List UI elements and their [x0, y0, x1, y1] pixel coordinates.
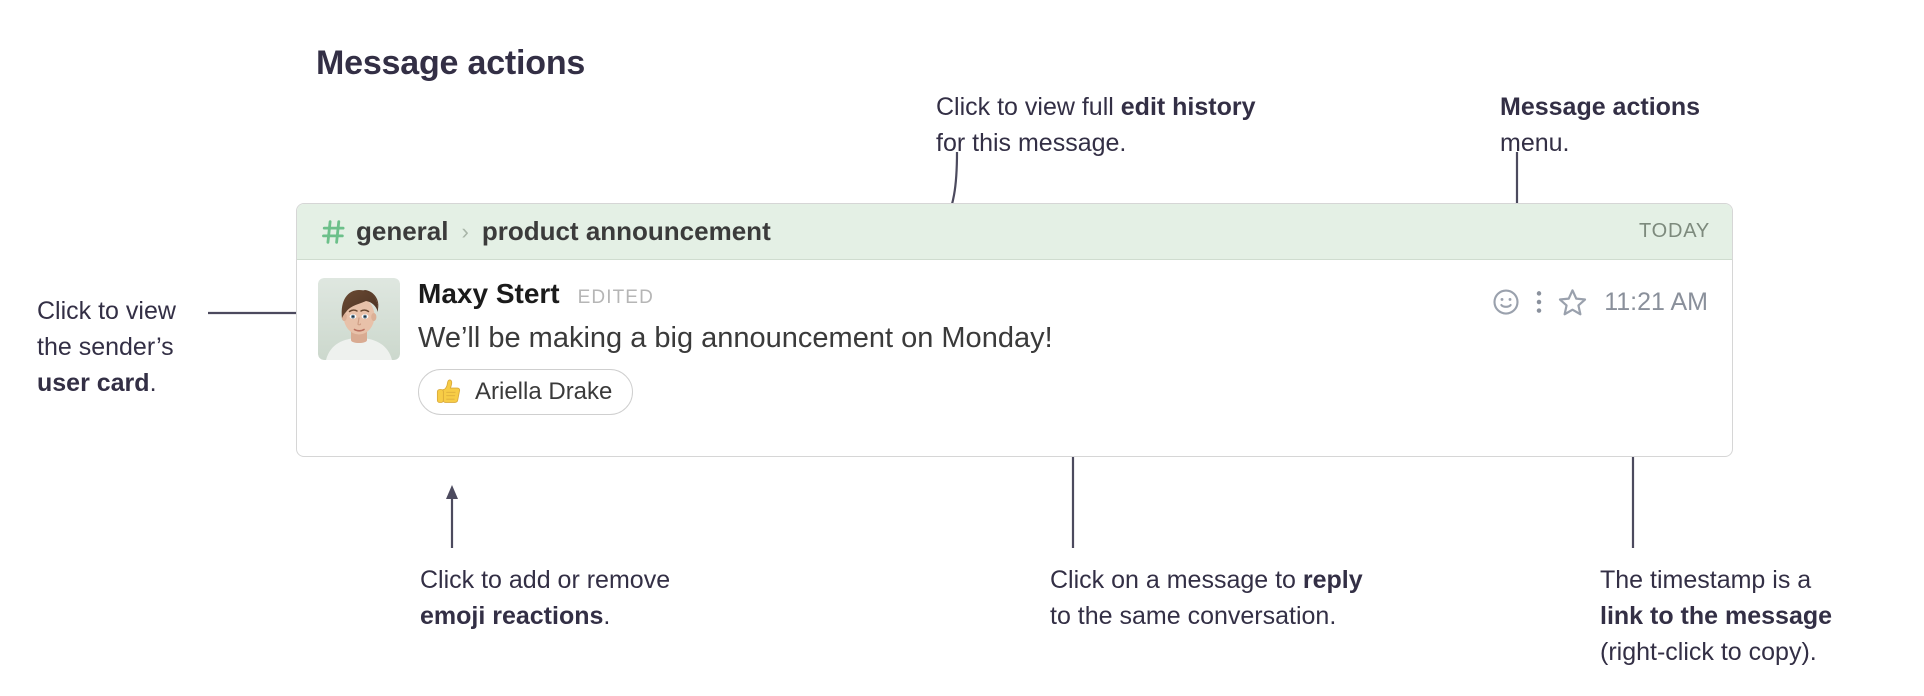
reaction-row: Ariella Drake [418, 369, 1710, 415]
reaction-user-name: Ariella Drake [475, 378, 612, 406]
avatar[interactable] [318, 278, 400, 360]
sender-name[interactable]: Maxy Stert [418, 278, 560, 310]
emoji-reaction-pill[interactable]: Ariella Drake [418, 369, 633, 415]
emoji-reaction-icon[interactable] [1488, 284, 1524, 320]
message-actions-bar: 11:21 AM [1488, 284, 1708, 320]
breadcrumb-topic-name[interactable]: product announcement [482, 216, 771, 247]
message-row[interactable]: Maxy Stert EDITED We’ll be making a big … [297, 260, 1732, 415]
message-timestamp-link[interactable]: 11:21 AM [1604, 288, 1708, 317]
breadcrumb-separator-icon: › [462, 221, 469, 243]
hash-icon[interactable] [321, 219, 347, 245]
message-card: general › product announcement TODAY [296, 203, 1733, 457]
vertical-ellipsis-icon[interactable] [1524, 284, 1554, 320]
breadcrumb-stream-name[interactable]: general [356, 216, 449, 247]
edited-label[interactable]: EDITED [578, 287, 654, 309]
star-icon[interactable] [1554, 284, 1590, 320]
message-date-label: TODAY [1639, 220, 1710, 243]
annotated-screenshot: Message actions Click to view full edit … [0, 0, 1924, 696]
recipient-bar: general › product announcement TODAY [297, 204, 1732, 260]
thumbs-up-emoji-icon [434, 377, 464, 407]
message-body-text[interactable]: We’ll be making a big announcement on Mo… [418, 322, 1710, 355]
connector-emoji-reactions-arrowhead [446, 485, 458, 499]
